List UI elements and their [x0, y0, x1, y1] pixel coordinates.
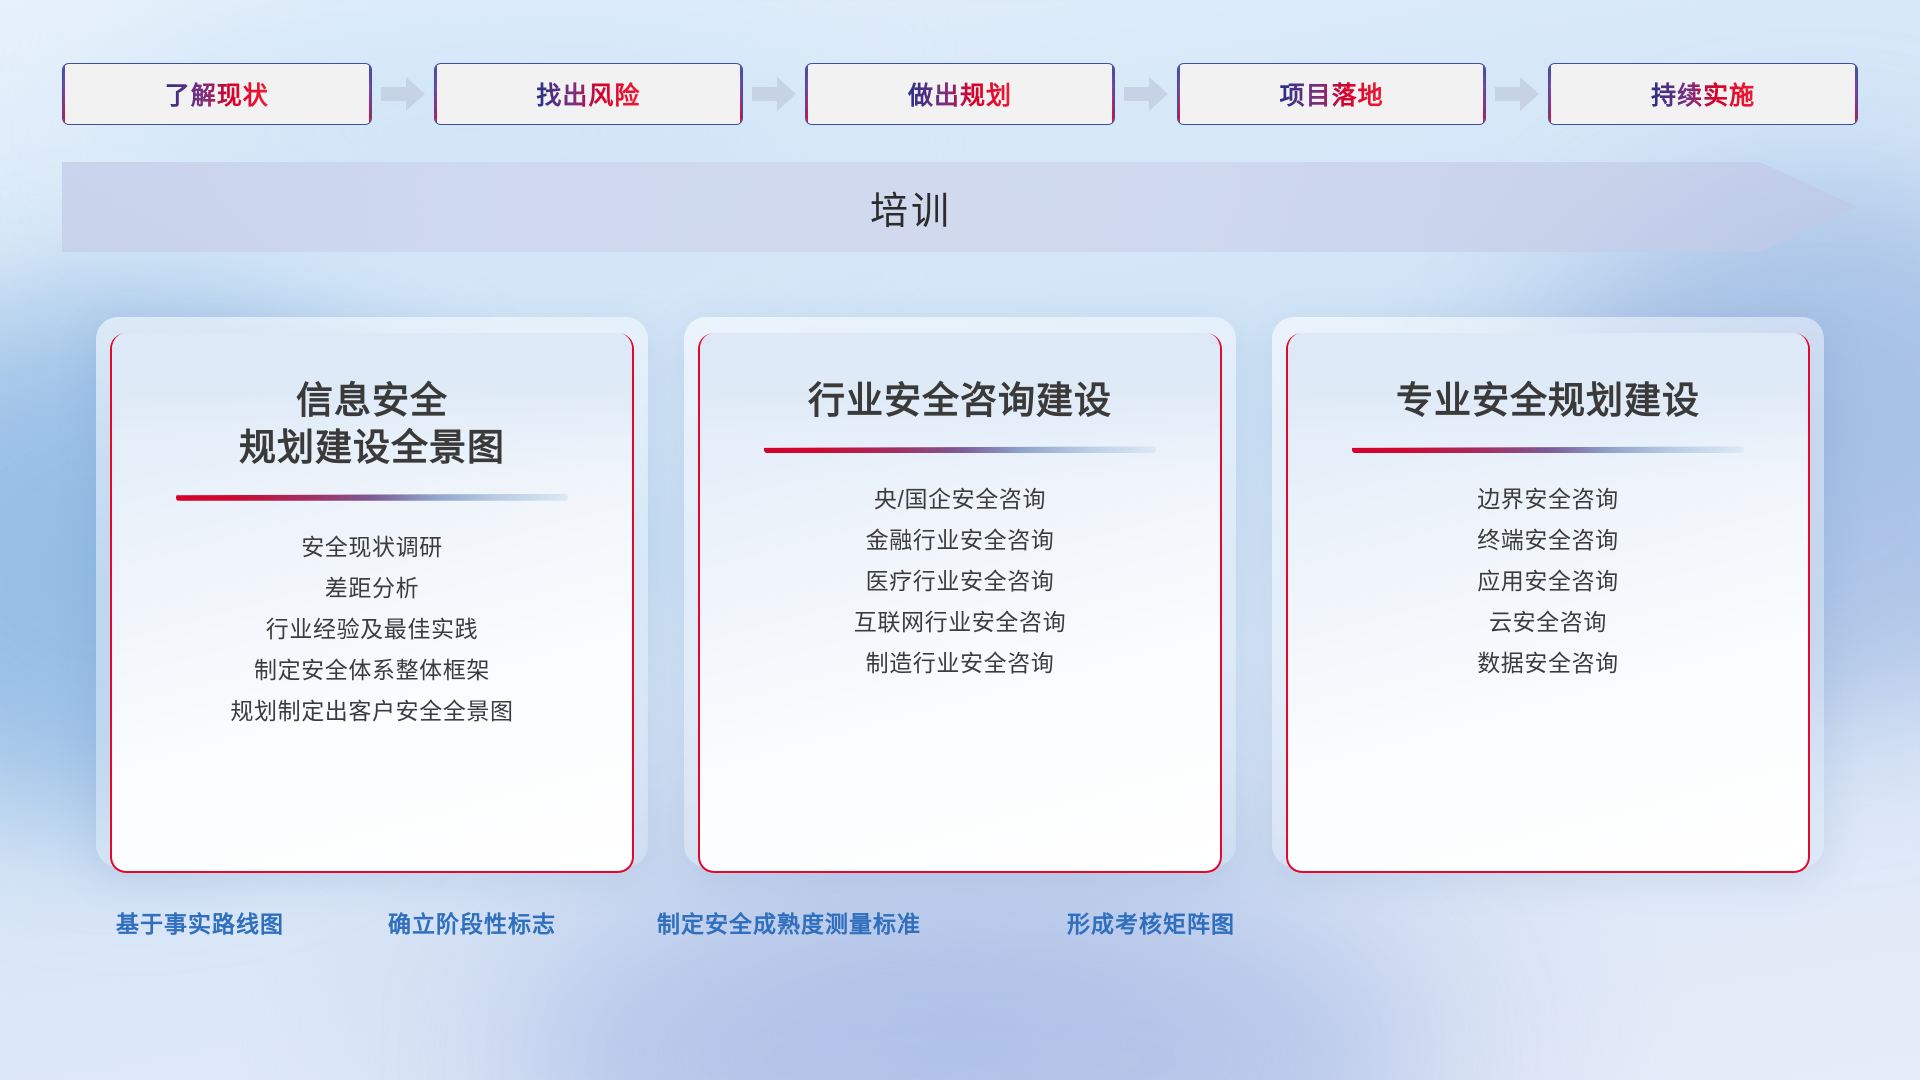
capability-card-1-list: 安全现状调研 差距分析 行业经验及最佳实践 制定安全体系整体框架 规划制定出客户…	[230, 527, 513, 732]
footer-caption-2: 确立阶段性标志	[388, 905, 556, 939]
list-item: 制定安全体系整体框架	[230, 650, 513, 691]
list-item: 终端安全咨询	[1477, 520, 1619, 561]
list-item: 数据安全咨询	[1477, 643, 1619, 684]
arrow-right-icon	[1115, 74, 1177, 114]
capability-card-2-wrap: 行业安全咨询建设 央/国企安全咨询 金融行业安全咨询 医疗行业安全咨询 互联网行…	[698, 333, 1222, 873]
capability-card-2-list: 央/国企安全咨询 金融行业安全咨询 医疗行业安全咨询 互联网行业安全咨询 制造行…	[854, 479, 1066, 684]
capability-card-2[interactable]: 行业安全咨询建设 央/国企安全咨询 金融行业安全咨询 医疗行业安全咨询 互联网行…	[698, 333, 1222, 873]
process-step-1-label: 了解现状	[165, 76, 269, 112]
process-step-row: 了解现状 找出风险 做出规划 项目落地 持续实施	[62, 63, 1858, 125]
capability-card-1-title: 信息安全 规划建设全景图	[239, 377, 505, 472]
capability-card-3-title: 专业安全规划建设	[1396, 377, 1700, 424]
process-step-4[interactable]: 项目落地	[1177, 63, 1487, 125]
process-step-5-label: 持续实施	[1651, 76, 1755, 112]
list-item: 云安全咨询	[1477, 602, 1619, 643]
process-step-3-label: 做出规划	[908, 76, 1012, 112]
banner-title: 培训	[62, 162, 1760, 252]
process-step-2[interactable]: 找出风险	[434, 63, 744, 125]
arrow-right-icon	[1486, 74, 1548, 114]
list-item: 边界安全咨询	[1477, 479, 1619, 520]
list-item: 金融行业安全咨询	[854, 520, 1066, 561]
list-item: 制造行业安全咨询	[854, 643, 1066, 684]
footer-caption-row: 基于事实路线图 确立阶段性标志 制定安全成熟度测量标准 形成考核矩阵图	[0, 905, 1920, 949]
arrow-right-icon	[743, 74, 805, 114]
process-step-3[interactable]: 做出规划	[805, 63, 1115, 125]
list-item: 央/国企安全咨询	[854, 479, 1066, 520]
list-item: 应用安全咨询	[1477, 561, 1619, 602]
capability-card-3[interactable]: 专业安全规划建设 边界安全咨询 终端安全咨询 应用安全咨询 云安全咨询 数据安全…	[1286, 333, 1810, 873]
list-item: 差距分析	[230, 568, 513, 609]
list-item: 行业经验及最佳实践	[230, 609, 513, 650]
list-item: 规划制定出客户安全全景图	[230, 691, 513, 732]
list-item: 互联网行业安全咨询	[854, 602, 1066, 643]
arrow-right-icon	[372, 74, 434, 114]
capability-card-row: 信息安全 规划建设全景图 安全现状调研 差距分析 行业经验及最佳实践 制定安全体…	[110, 333, 1810, 873]
capability-card-1-wrap: 信息安全 规划建设全景图 安全现状调研 差距分析 行业经验及最佳实践 制定安全体…	[110, 333, 634, 873]
footer-caption-1: 基于事实路线图	[116, 905, 284, 939]
training-banner: 培训	[62, 162, 1858, 252]
list-item: 安全现状调研	[230, 527, 513, 568]
process-step-4-label: 项目落地	[1280, 76, 1384, 112]
process-step-2-label: 找出风险	[536, 76, 640, 112]
footer-caption-4: 形成考核矩阵图	[1067, 905, 1235, 939]
card-divider-rule	[764, 446, 1156, 453]
card-divider-rule	[176, 494, 568, 501]
capability-card-3-list: 边界安全咨询 终端安全咨询 应用安全咨询 云安全咨询 数据安全咨询	[1477, 479, 1619, 684]
capability-card-2-title: 行业安全咨询建设	[808, 377, 1112, 424]
process-step-1[interactable]: 了解现状	[62, 63, 372, 125]
card-divider-rule	[1352, 446, 1744, 453]
capability-card-1[interactable]: 信息安全 规划建设全景图 安全现状调研 差距分析 行业经验及最佳实践 制定安全体…	[110, 333, 634, 873]
capability-card-3-wrap: 专业安全规划建设 边界安全咨询 终端安全咨询 应用安全咨询 云安全咨询 数据安全…	[1286, 333, 1810, 873]
footer-caption-3: 制定安全成熟度测量标准	[657, 905, 921, 939]
process-step-5[interactable]: 持续实施	[1548, 63, 1858, 125]
list-item: 医疗行业安全咨询	[854, 561, 1066, 602]
